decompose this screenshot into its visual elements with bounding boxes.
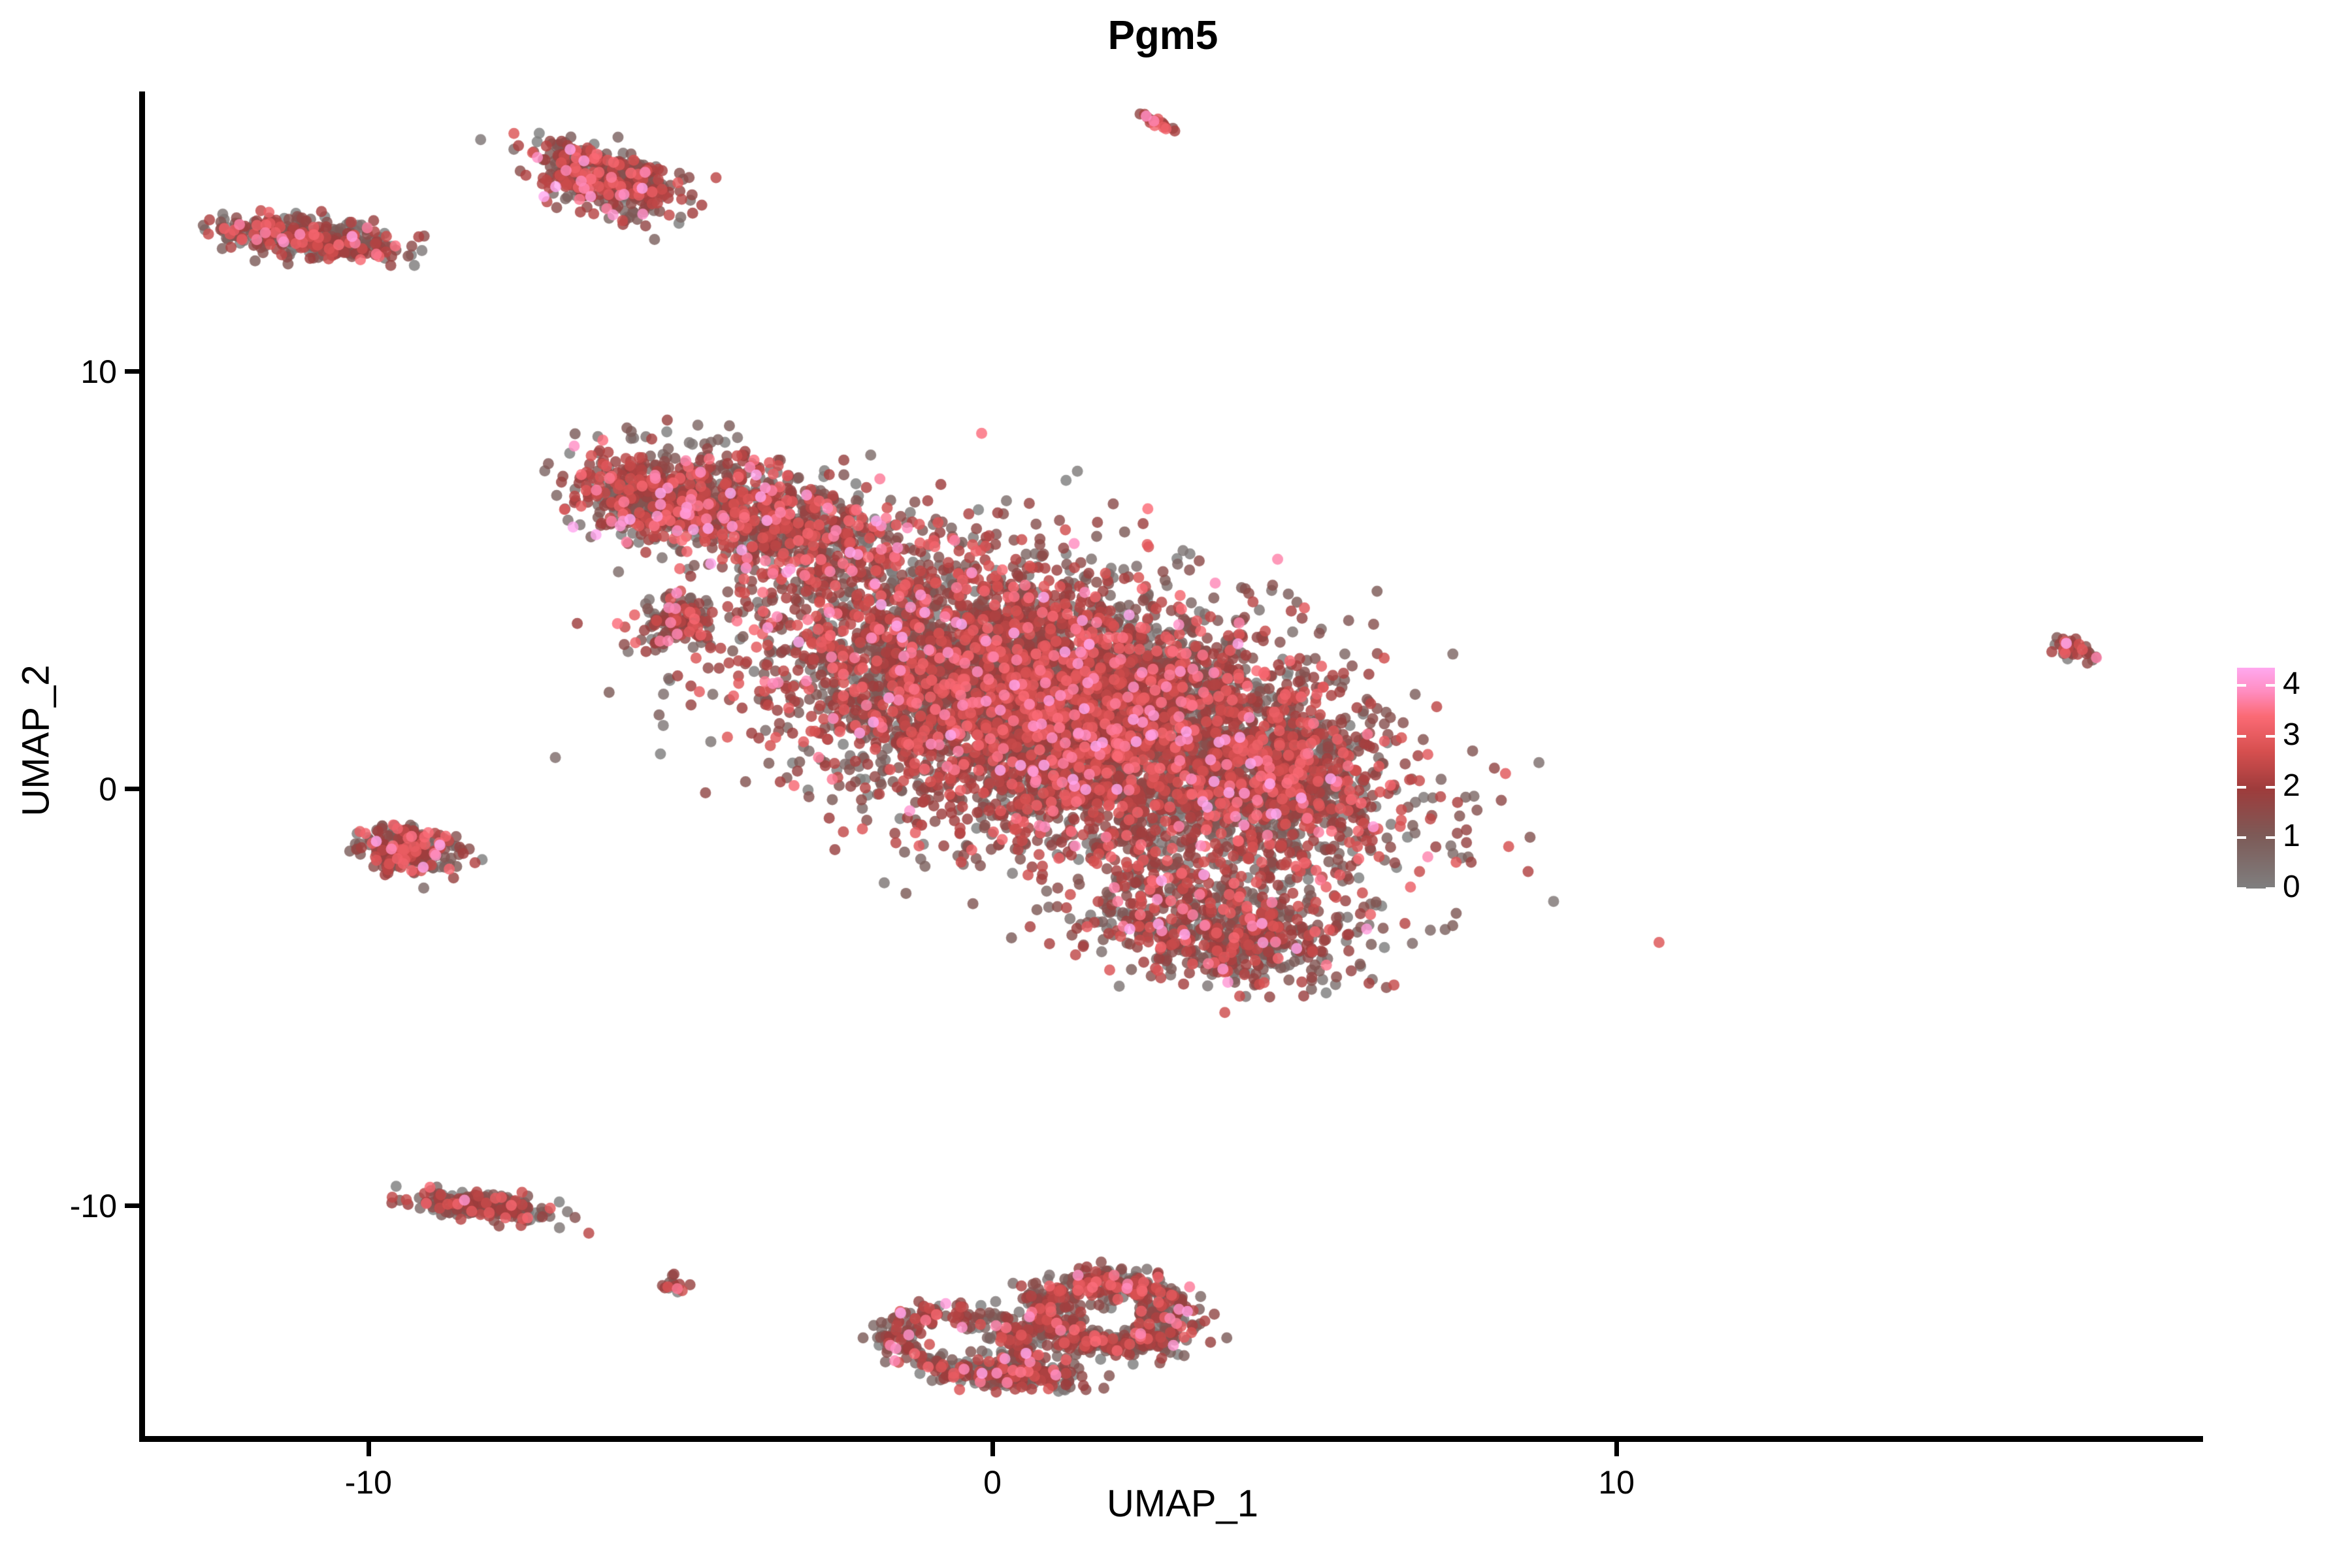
x-tick-label: -10 bbox=[303, 1463, 434, 1501]
colorbar-gradient bbox=[2237, 668, 2275, 889]
colorbar-tick-label: 3 bbox=[2283, 719, 2300, 751]
page-title: Pgm5 bbox=[0, 13, 2339, 59]
colorbar-tick-mark bbox=[2266, 836, 2275, 839]
colorbar-canvas bbox=[2237, 668, 2275, 889]
x-tick-mark bbox=[1614, 1442, 1619, 1456]
scatter-plot-canvas bbox=[144, 91, 2203, 1439]
y-tick-mark bbox=[125, 787, 139, 791]
colorbar-tick-mark bbox=[2237, 887, 2246, 890]
x-tick-label: 10 bbox=[1551, 1463, 1682, 1501]
colorbar-tick-label: 0 bbox=[2283, 872, 2300, 903]
colorbar-tick-label: 4 bbox=[2283, 668, 2300, 700]
y-axis-line bbox=[139, 91, 145, 1441]
y-tick-label: -10 bbox=[1, 1187, 117, 1225]
colorbar-tick-mark bbox=[2266, 684, 2275, 687]
colorbar-tick-mark bbox=[2266, 786, 2275, 789]
colorbar-tick-mark bbox=[2266, 735, 2275, 738]
y-tick-label: 10 bbox=[1, 353, 117, 391]
colorbar-tick-label: 1 bbox=[2283, 821, 2300, 852]
x-tick-mark bbox=[990, 1442, 995, 1456]
x-axis-line bbox=[139, 1436, 2203, 1442]
colorbar-legend: 01234 bbox=[2237, 668, 2335, 890]
y-tick-mark bbox=[125, 1203, 139, 1208]
y-axis-title: UMAP_2 bbox=[14, 480, 58, 1002]
umap-feature-plot: Pgm5 -10010 -10010 UMAP_2 UMAP_1 01234 bbox=[0, 0, 2352, 1568]
colorbar-tick-mark bbox=[2237, 735, 2246, 738]
colorbar-tick-label: 2 bbox=[2283, 770, 2300, 802]
colorbar-tick-mark bbox=[2237, 684, 2246, 687]
colorbar-tick-mark bbox=[2237, 786, 2246, 789]
colorbar-tick-mark bbox=[2237, 836, 2246, 839]
x-tick-label: 0 bbox=[927, 1463, 1058, 1501]
colorbar-tick-mark bbox=[2266, 887, 2275, 890]
y-tick-mark bbox=[125, 369, 139, 374]
x-tick-mark bbox=[367, 1442, 371, 1456]
x-axis-title: UMAP_1 bbox=[1052, 1482, 1313, 1526]
plot-panel bbox=[144, 91, 2203, 1439]
